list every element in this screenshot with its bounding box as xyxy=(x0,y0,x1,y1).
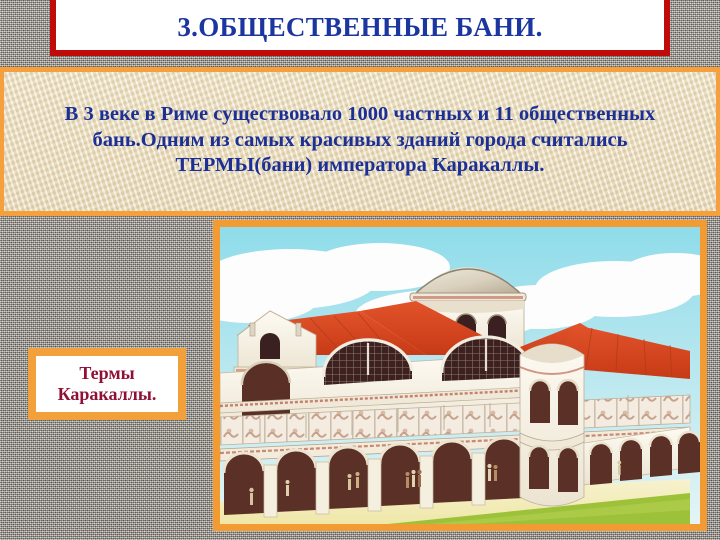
caption-line-1: Термы xyxy=(79,363,134,383)
illustration-caption-plaque: Термы Каракаллы. xyxy=(28,348,186,420)
illustration-frame xyxy=(213,220,707,531)
body-text-panel: В 3 веке в Риме существовало 1000 частны… xyxy=(0,67,720,216)
right-apse-tower xyxy=(520,344,584,506)
caption-line-2: Каракаллы. xyxy=(58,384,157,404)
baths-of-caracalla-drawing xyxy=(220,227,700,524)
body-paragraph: В 3 веке в Риме существовало 1000 частны… xyxy=(40,102,680,181)
baths-of-caracalla-illustration xyxy=(220,227,700,524)
page-title: 3.ОБЩЕСТВЕННЫЕ БАНИ. xyxy=(177,10,542,41)
illustration-caption: Термы Каракаллы. xyxy=(58,363,157,405)
slide-canvas: 3.ОБЩЕСТВЕННЫЕ БАНИ. В 3 веке в Риме сущ… xyxy=(0,0,720,540)
dome-cornice-dentils xyxy=(413,296,523,299)
title-plaque: 3.ОБЩЕСТВЕННЫЕ БАНИ. xyxy=(50,0,670,56)
